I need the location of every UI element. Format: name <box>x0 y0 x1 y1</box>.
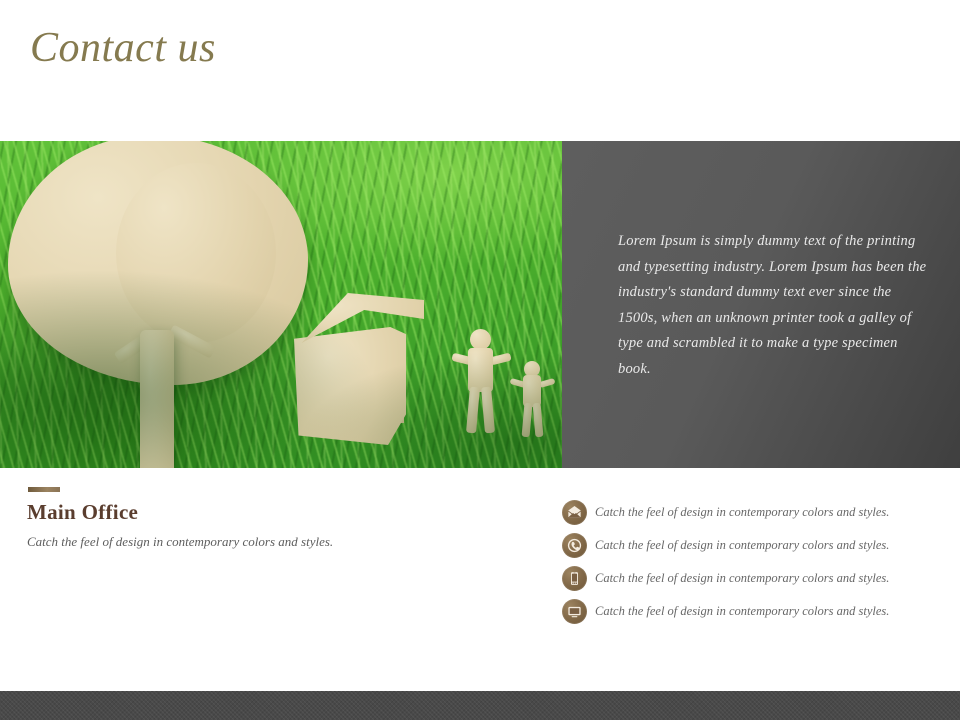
contact-row-phone[interactable]: Catch the feel of design in contemporary… <box>562 530 922 560</box>
office-subtitle: Catch the feel of design in contemporary… <box>27 533 333 551</box>
office-title: Main Office <box>27 498 138 526</box>
contact-text-mobile: Catch the feel of design in contemporary… <box>595 570 889 586</box>
hero-photo <box>0 141 562 468</box>
mobile-phone-icon[interactable] <box>562 566 587 591</box>
quote-text: Lorem Ipsum is simply dummy text of the … <box>618 229 930 383</box>
contact-row-website[interactable]: Catch the feel of design in contemporary… <box>562 596 922 626</box>
hero-band: Lorem Ipsum is simply dummy text of the … <box>0 141 960 468</box>
contact-row-mobile[interactable]: Catch the feel of design in contemporary… <box>562 563 922 593</box>
contact-list: Catch the feel of design in contemporary… <box>562 497 922 629</box>
contact-text-email: Catch the feel of design in contemporary… <box>595 504 889 520</box>
grass-shadow-overlay <box>0 141 562 468</box>
footer-bar <box>0 691 960 720</box>
quote-panel: Lorem Ipsum is simply dummy text of the … <box>562 141 960 468</box>
slide-canvas: Contact us <box>0 0 960 720</box>
contact-text-phone: Catch the feel of design in contemporary… <box>595 537 889 553</box>
contact-text-website: Catch the feel of design in contemporary… <box>595 603 889 619</box>
phone-icon[interactable] <box>562 533 587 558</box>
contact-row-email[interactable]: Catch the feel of design in contemporary… <box>562 497 922 527</box>
accent-bar <box>28 487 60 492</box>
envelope-icon[interactable] <box>562 500 587 525</box>
monitor-icon[interactable] <box>562 599 587 624</box>
page-title: Contact us <box>30 20 216 76</box>
